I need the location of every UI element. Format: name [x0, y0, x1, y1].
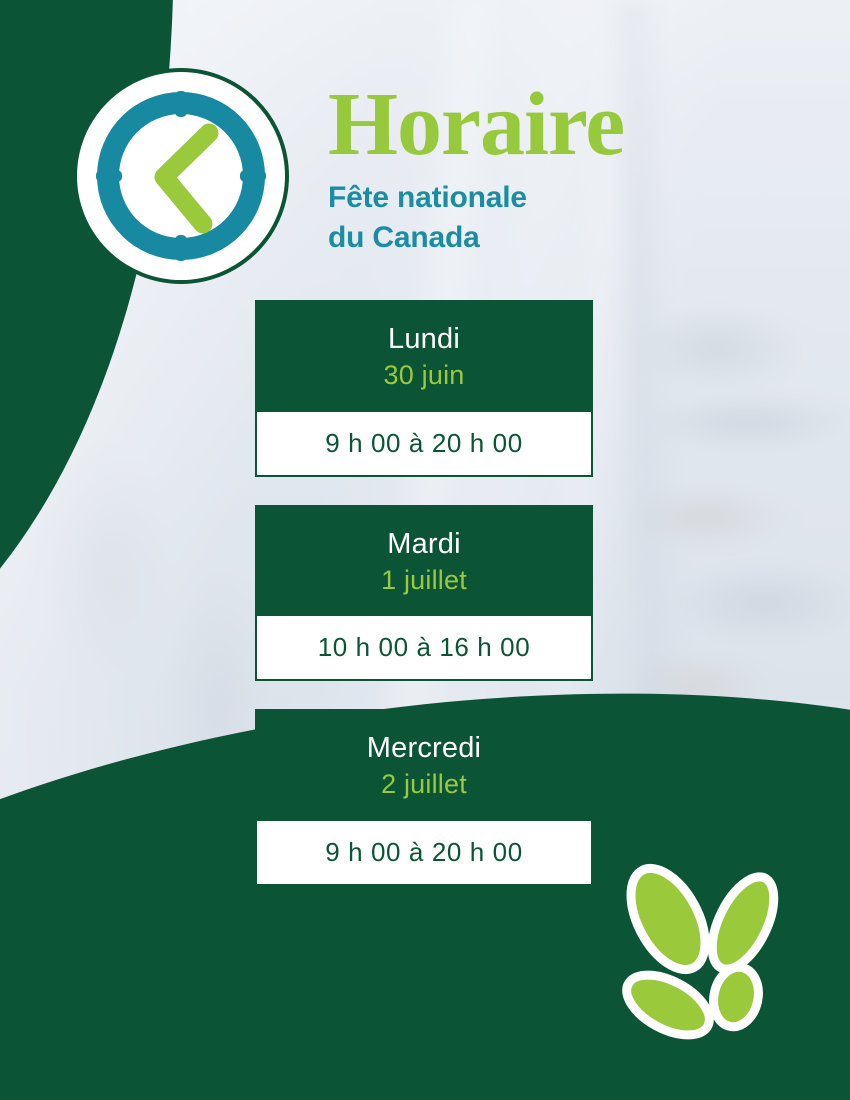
title-block: Horaire Fête nationale du Canada — [328, 82, 748, 258]
clock-icon — [72, 67, 290, 285]
schedule-card-header: Lundi 30 juin — [255, 300, 593, 412]
subtitle-line-1: Fête nationale — [328, 178, 748, 218]
schedule-card-date: 1 juillet — [265, 564, 583, 596]
schedule-card-header: Mardi 1 juillet — [255, 505, 593, 617]
schedule-card-hours: 9 h 00 à 20 h 00 — [255, 821, 593, 886]
subtitle-line-2: du Canada — [328, 218, 748, 258]
schedule-card-hours: 10 h 00 à 16 h 00 — [255, 616, 593, 681]
schedule-card: Lundi 30 juin 9 h 00 à 20 h 00 — [255, 300, 593, 477]
schedule-card-day: Mercredi — [265, 731, 583, 765]
schedule-card: Mercredi 2 juillet 9 h 00 à 20 h 00 — [255, 709, 593, 886]
page-title: Horaire — [328, 82, 748, 168]
page-subtitle: Fête nationale du Canada — [328, 178, 748, 257]
schedule-card: Mardi 1 juillet 10 h 00 à 16 h 00 — [255, 505, 593, 682]
schedule-card-day: Lundi — [265, 322, 583, 356]
schedule-card-date: 2 juillet — [265, 768, 583, 800]
schedule-card-date: 30 juin — [265, 359, 583, 391]
schedule-card-hours: 9 h 00 à 20 h 00 — [255, 412, 593, 477]
butterfly-logo-icon — [616, 857, 796, 1057]
schedule-card-day: Mardi — [265, 527, 583, 561]
poster-header: Horaire Fête nationale du Canada — [0, 0, 850, 290]
schedule-card-header: Mercredi 2 juillet — [255, 709, 593, 821]
schedule-card-list: Lundi 30 juin 9 h 00 à 20 h 00 Mardi 1 j… — [255, 300, 593, 886]
schedule-poster: Horaire Fête nationale du Canada Lundi 3… — [0, 0, 850, 1100]
